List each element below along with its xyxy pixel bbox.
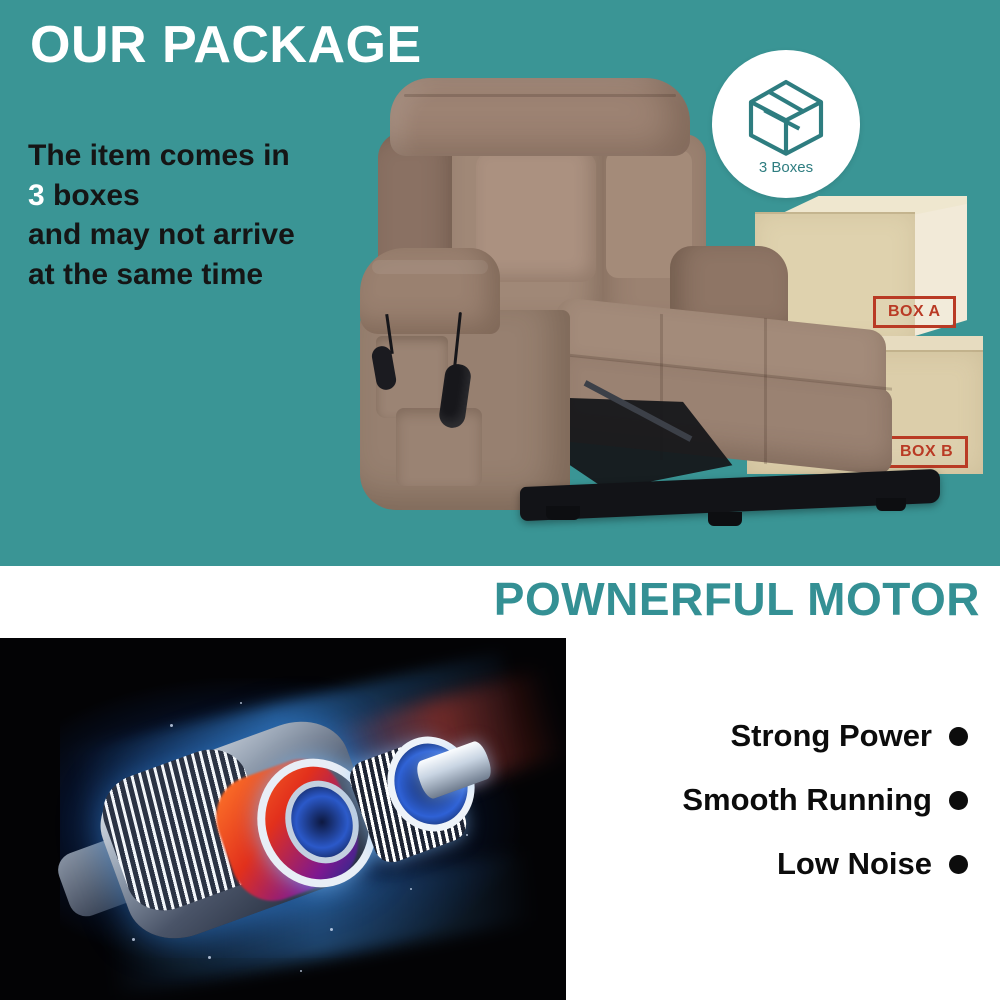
headrest bbox=[390, 78, 690, 156]
section-title-motor: POWNERFUL MOTOR bbox=[400, 572, 980, 632]
recliner-product-image bbox=[360, 78, 920, 558]
bullet-icon bbox=[949, 791, 968, 810]
feature-list: Strong Power Smooth Running Low Noise bbox=[600, 718, 1000, 910]
feature-item-low-noise: Low Noise bbox=[600, 846, 1000, 882]
box-count-unit: boxes bbox=[45, 179, 140, 212]
description-line-2: 3 boxes bbox=[28, 176, 295, 216]
feature-label: Strong Power bbox=[730, 718, 932, 754]
description-line-4: at the same time bbox=[28, 255, 295, 295]
package-description: The item comes in 3 boxes and may not ar… bbox=[28, 136, 295, 294]
feature-item-smooth-running: Smooth Running bbox=[600, 782, 1000, 818]
motor-image bbox=[0, 638, 566, 1000]
bullet-icon bbox=[949, 727, 968, 746]
page-title: OUR PACKAGE bbox=[30, 18, 422, 73]
description-line-3: and may not arrive bbox=[28, 215, 295, 255]
box-count-highlight: 3 bbox=[28, 179, 45, 212]
infographic-page: OUR PACKAGE The item comes in 3 boxes an… bbox=[0, 0, 1000, 1000]
bullet-icon bbox=[949, 855, 968, 874]
feature-item-strong-power: Strong Power bbox=[600, 718, 1000, 754]
package-section: OUR PACKAGE The item comes in 3 boxes an… bbox=[0, 0, 1000, 566]
description-line-1: The item comes in bbox=[28, 136, 295, 176]
feature-label: Low Noise bbox=[777, 846, 932, 882]
feature-label: Smooth Running bbox=[682, 782, 932, 818]
